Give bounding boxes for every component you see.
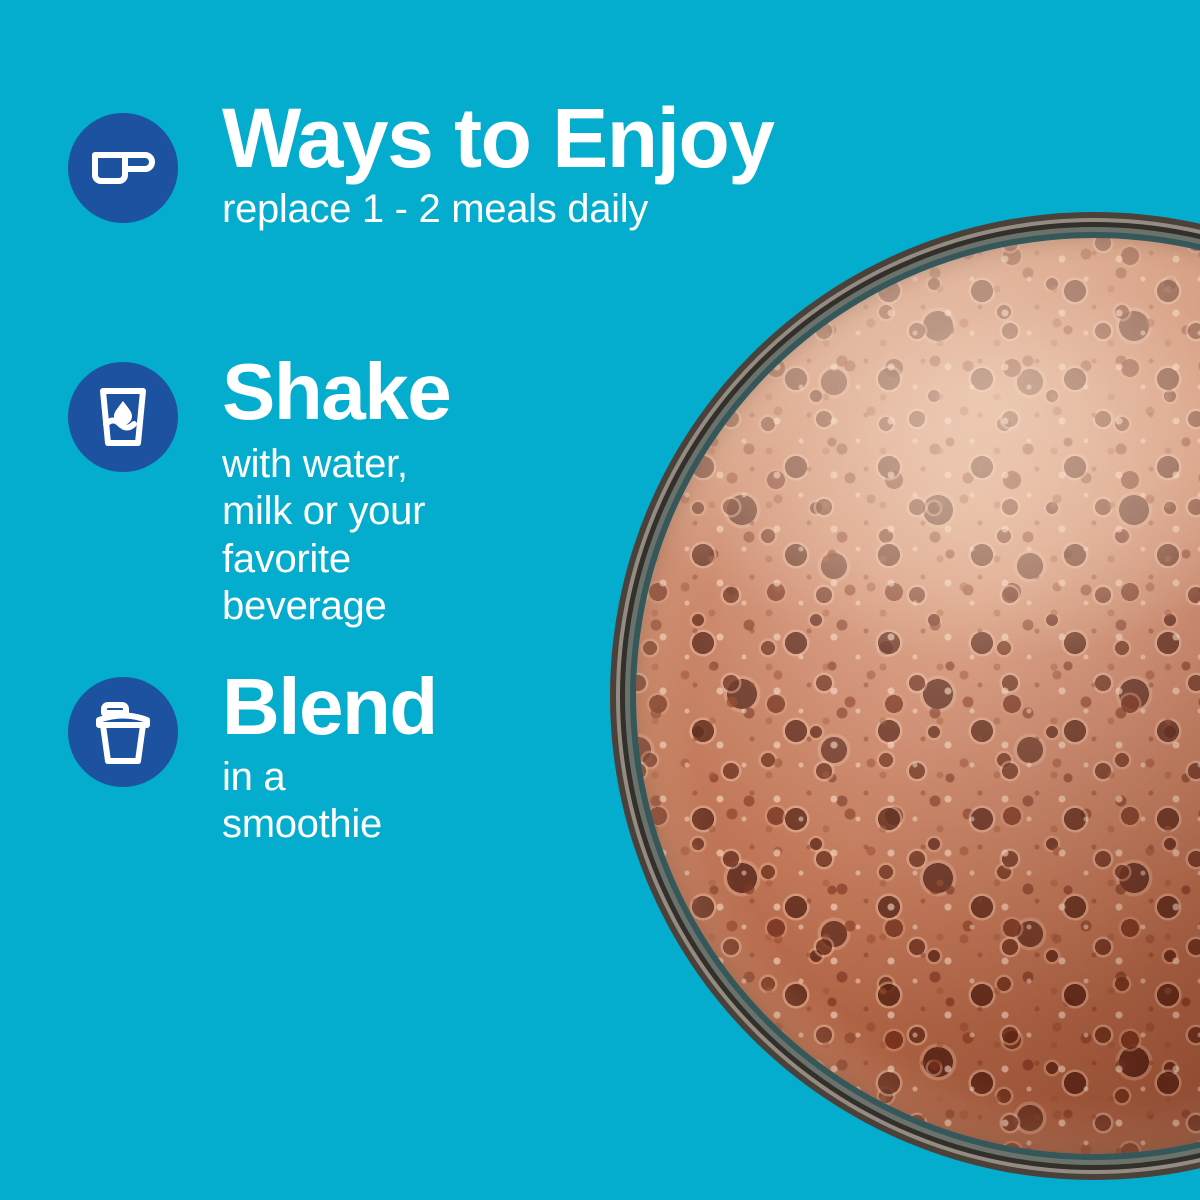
product-infographic-poster: Ways to Enjoy replace 1 - 2 meals daily (0, 0, 1200, 1200)
section-heading: Blend (222, 669, 437, 744)
section-ways-to-enjoy: Ways to Enjoy replace 1 - 2 meals daily (68, 113, 773, 233)
section-text-shake: Shake with water, milk or your favorite … (222, 362, 450, 630)
section-subtext: replace 1 - 2 meals daily (222, 186, 773, 233)
section-text-ways-to-enjoy: Ways to Enjoy replace 1 - 2 meals daily (222, 113, 773, 233)
section-shake: Shake with water, milk or your favorite … (68, 362, 450, 630)
water-glass-icon (97, 386, 149, 448)
shaker-cup-icon (94, 698, 152, 766)
water-glass-icon-badge (68, 362, 178, 472)
section-heading: Shake (222, 354, 450, 429)
section-blend: Blend in a smoothie (68, 677, 437, 849)
shaker-cup-icon-badge (68, 677, 178, 787)
section-heading: Ways to Enjoy (222, 99, 773, 178)
measuring-scoop-icon (90, 146, 156, 190)
glass-of-chocolate-shake-top-view (610, 212, 1200, 1180)
section-subtext: in a smoothie (222, 754, 437, 848)
shake-liquid-surface (636, 238, 1200, 1154)
measuring-scoop-icon-badge (68, 113, 178, 223)
section-text-blend: Blend in a smoothie (222, 677, 437, 849)
section-subtext: with water, milk or your favorite bevera… (222, 441, 450, 630)
